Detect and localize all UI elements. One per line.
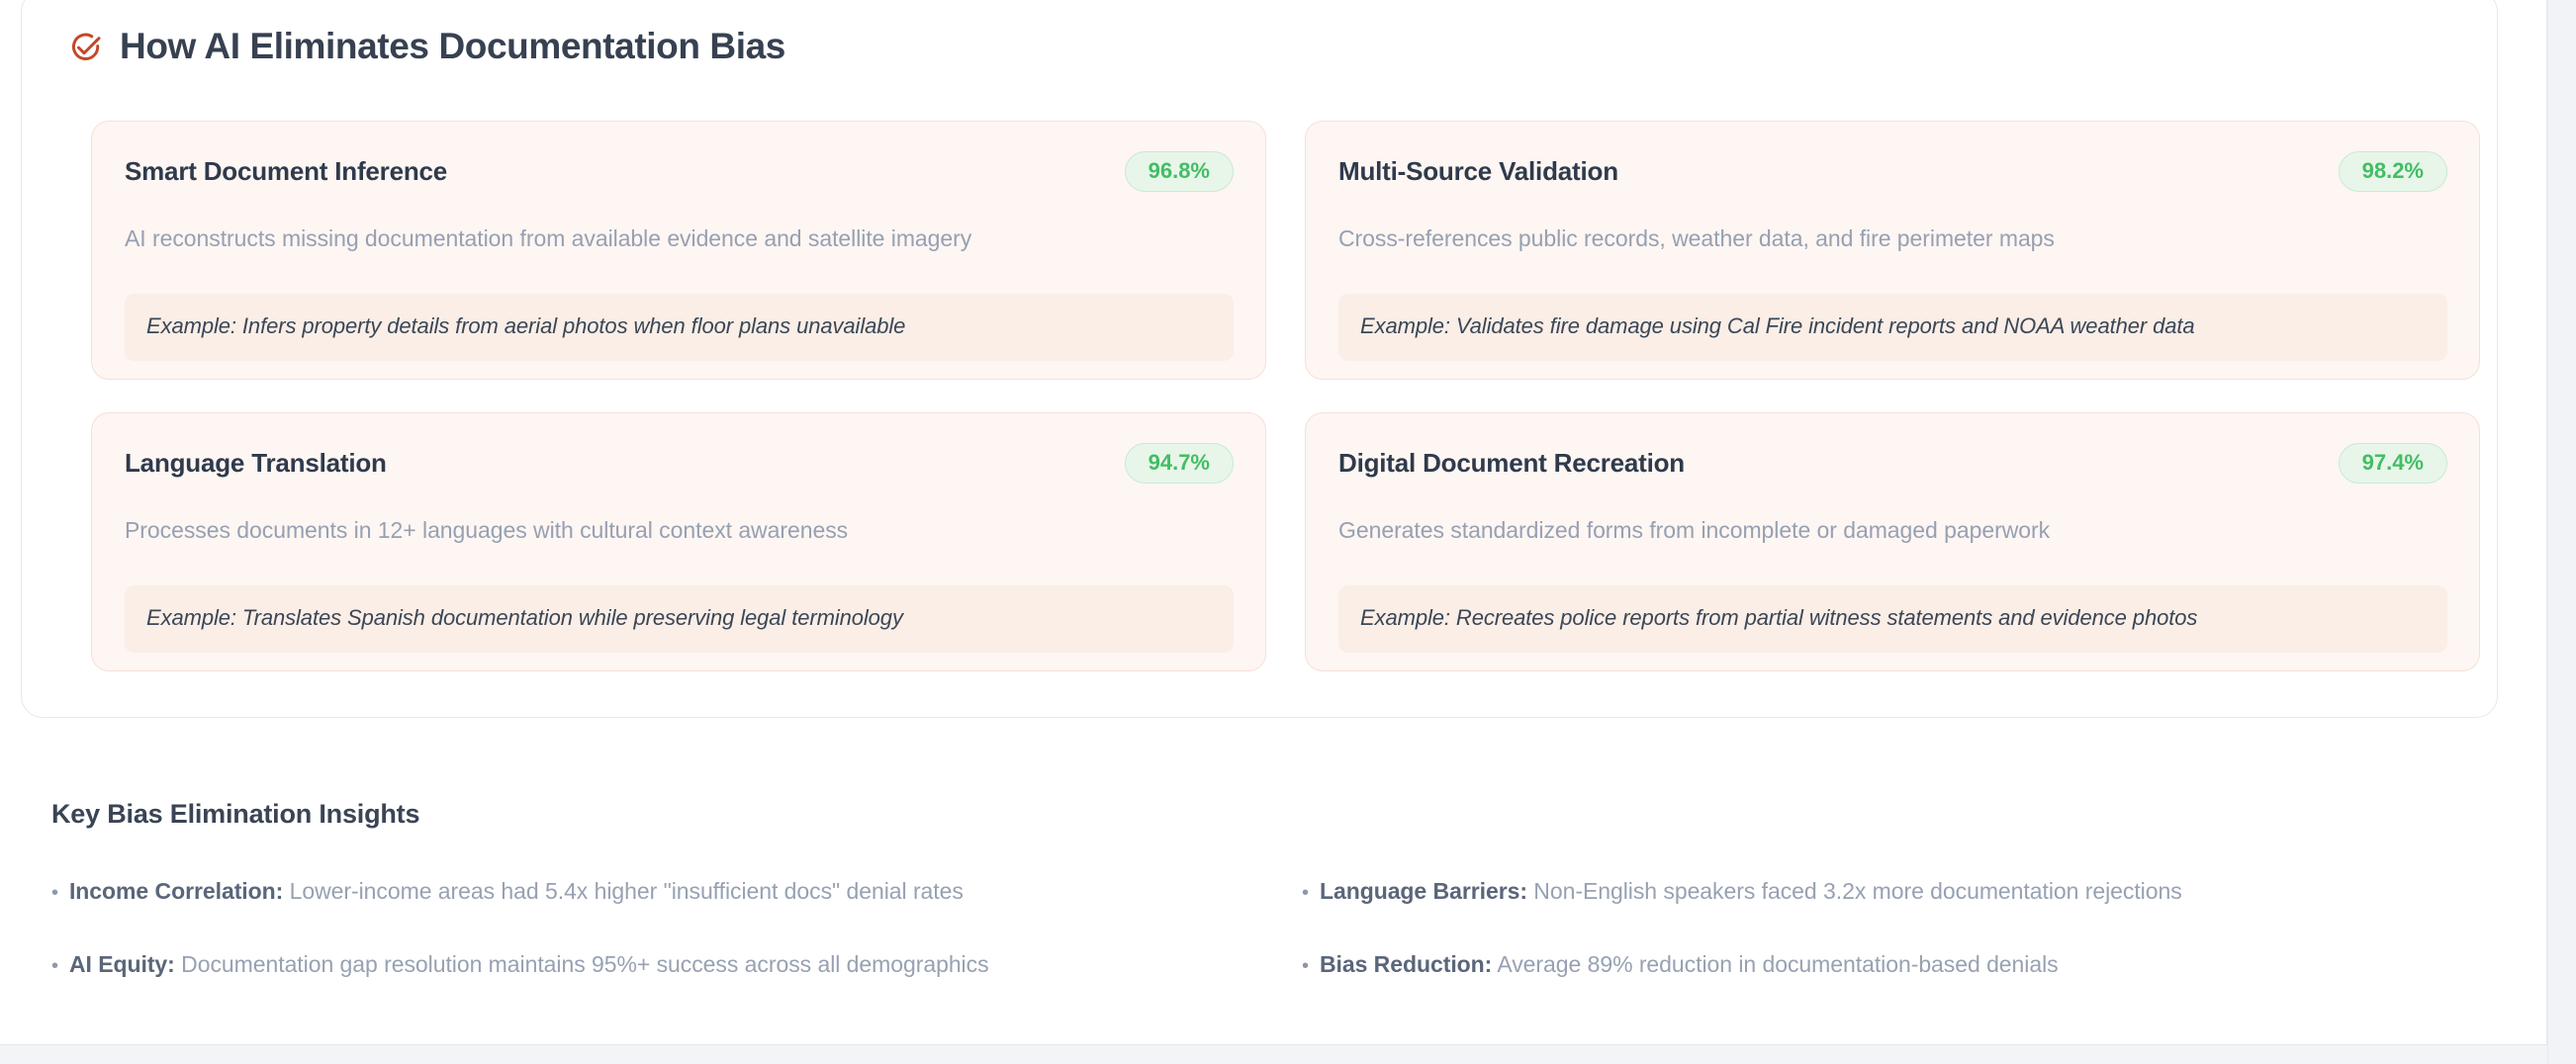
insight-item-language-barriers: • Language Barriers: Non-English speaker… [1302,877,2455,906]
card-header: Language Translation 94.7% [125,443,1234,484]
card-description: Processes documents in 12+ languages wit… [125,515,1234,546]
feature-card-multi-source-validation[interactable]: Multi-Source Validation 98.2% Cross-refe… [1305,121,2480,380]
bullet-icon: • [51,883,58,903]
insight-text: Bias Reduction: Average 89% reduction in… [1320,950,2059,979]
insight-body: Non-English speakers faced 3.2x more doc… [1533,878,2181,904]
card-header: Smart Document Inference 96.8% [125,151,1234,192]
page-title: How AI Eliminates Documentation Bias [120,27,785,67]
feature-card-smart-document-inference[interactable]: Smart Document Inference 96.8% AI recons… [91,121,1266,380]
card-title: Digital Document Recreation [1338,449,1685,479]
card-example: Example: Infers property details from ae… [125,294,1234,361]
insight-label: AI Equity: [69,951,175,977]
circle-check-icon [69,31,103,64]
card-title: Language Translation [125,449,387,479]
accuracy-badge: 96.8% [1125,151,1234,192]
card-title: Multi-Source Validation [1338,157,1618,187]
insights-grid: • Income Correlation: Lower-income areas… [51,877,2455,979]
page-scrollbar[interactable] [2547,0,2576,1064]
card-example: Example: Translates Spanish documentatio… [125,585,1234,653]
card-description: AI reconstructs missing documentation fr… [125,223,1234,254]
insight-text: Income Correlation: Lower-income areas h… [69,877,964,906]
insight-item-bias-reduction: • Bias Reduction: Average 89% reduction … [1302,950,2455,979]
feature-card-grid: Smart Document Inference 96.8% AI recons… [91,121,2480,671]
accuracy-badge: 97.4% [2339,443,2447,484]
insight-text: AI Equity: Documentation gap resolution … [69,950,989,979]
accuracy-badge: 94.7% [1125,443,1234,484]
card-title: Smart Document Inference [125,157,447,187]
panel-header: How AI Eliminates Documentation Bias [69,27,785,67]
content-viewport: How AI Eliminates Documentation Bias Sma… [0,0,2547,1064]
insight-body: Average 89% reduction in documentation-b… [1497,951,2058,977]
bottom-strip [0,1045,2547,1064]
insight-label: Bias Reduction: [1320,951,1492,977]
card-example: Example: Validates fire damage using Cal… [1338,294,2447,361]
feature-card-language-translation[interactable]: Language Translation 94.7% Processes doc… [91,412,1266,671]
insights-title: Key Bias Elimination Insights [51,799,2455,830]
bullet-icon: • [1302,956,1309,976]
insight-body: Documentation gap resolution maintains 9… [181,951,988,977]
insight-label: Language Barriers: [1320,878,1527,904]
key-insights-section: Key Bias Elimination Insights • Income C… [51,799,2455,979]
bullet-icon: • [1302,883,1309,903]
card-header: Digital Document Recreation 97.4% [1338,443,2447,484]
card-description: Generates standardized forms from incomp… [1338,515,2447,546]
insight-item-income-correlation: • Income Correlation: Lower-income areas… [51,877,1278,906]
accuracy-badge: 98.2% [2339,151,2447,192]
feature-card-digital-document-recreation[interactable]: Digital Document Recreation 97.4% Genera… [1305,412,2480,671]
page-root: How AI Eliminates Documentation Bias Sma… [0,0,2576,1064]
insight-text: Language Barriers: Non-English speakers … [1320,877,2182,906]
card-header: Multi-Source Validation 98.2% [1338,151,2447,192]
card-description: Cross-references public records, weather… [1338,223,2447,254]
insight-label: Income Correlation: [69,878,283,904]
ai-bias-panel: How AI Eliminates Documentation Bias Sma… [21,0,2498,718]
card-example: Example: Recreates police reports from p… [1338,585,2447,653]
bullet-icon: • [51,956,58,976]
insight-body: Lower-income areas had 5.4x higher "insu… [290,878,964,904]
insight-item-ai-equity: • AI Equity: Documentation gap resolutio… [51,950,1278,979]
